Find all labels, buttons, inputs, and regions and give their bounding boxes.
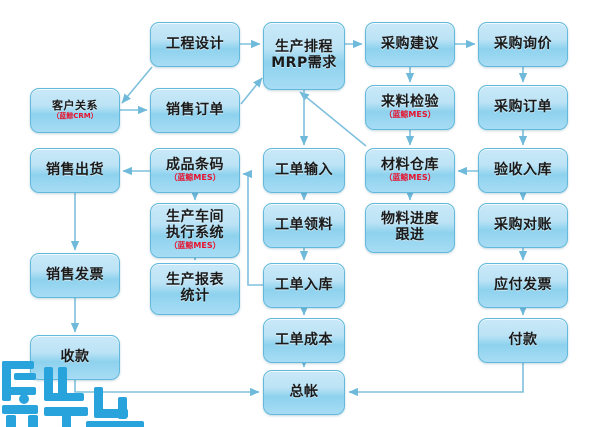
node-sublabel: （蓝鲸MES） — [384, 174, 435, 183]
node-crm[interactable]: 客户关系（蓝鲸CRM） — [30, 88, 120, 133]
node-payment_out[interactable]: 付款 — [478, 318, 568, 363]
node-purchase_inquiry[interactable]: 采购询价 — [478, 22, 568, 67]
node-payable_invoice[interactable]: 应付发票 — [478, 263, 568, 308]
node-material_warehouse[interactable]: 材料仓库（蓝鲸MES） — [365, 148, 455, 193]
node-purchase_recon[interactable]: 采购对账 — [478, 203, 568, 248]
node-sales_invoice[interactable]: 销售发票 — [30, 253, 120, 298]
node-label: 采购询价 — [494, 37, 552, 53]
node-sales_shipment[interactable]: 销售出货 — [30, 148, 120, 193]
edge-engineering_design-to-crm — [122, 67, 152, 103]
node-label: 材料仓库 — [381, 158, 439, 174]
node-label: 工单入库 — [275, 278, 333, 294]
edge-material_warehouse-to-mrp — [300, 92, 366, 146]
node-production_report[interactable]: 生产报表 统计 — [150, 263, 240, 315]
node-label: 验收入库 — [494, 163, 552, 179]
node-label: 总帐 — [290, 385, 319, 401]
node-label: 客户关系 — [52, 100, 98, 112]
node-label: 采购订单 — [494, 100, 552, 116]
node-wo_picking[interactable]: 工单领料 — [263, 203, 345, 248]
node-general_ledger[interactable]: 总帐 — [263, 370, 345, 415]
node-sales_order[interactable]: 销售订单 — [150, 88, 240, 133]
node-label: 来料检验 — [381, 95, 439, 111]
node-incoming_inspection[interactable]: 来料检验（蓝鲸MES） — [365, 85, 455, 130]
site-watermark-logo — [0, 353, 150, 427]
node-fg_barcode[interactable]: 成品条码（蓝鲸MES） — [150, 148, 240, 193]
node-mrp[interactable]: 生产排程 MRP需求 — [263, 22, 345, 90]
node-wo_storage[interactable]: 工单入库 — [263, 263, 345, 308]
node-label: 物料进度 跟进 — [381, 212, 439, 243]
node-label: 工程设计 — [166, 37, 224, 53]
node-label: 生产排程 MRP需求 — [271, 40, 336, 71]
node-label: 应付发票 — [494, 278, 552, 294]
edge-sales_order-to-mrp — [241, 78, 262, 104]
node-label: 工单输入 — [275, 163, 333, 179]
node-purchase_order[interactable]: 采购订单 — [478, 85, 568, 130]
node-label: 工单领料 — [275, 218, 333, 234]
node-wo_cost[interactable]: 工单成本 — [263, 318, 345, 363]
node-receipt_storage[interactable]: 验收入库 — [478, 148, 568, 193]
node-label: 生产报表 统计 — [166, 273, 224, 304]
node-sublabel: （蓝鲸CRM） — [52, 113, 98, 121]
node-sublabel: （蓝鲸MES） — [169, 174, 220, 183]
node-label: 销售出货 — [46, 163, 104, 179]
flowchart-canvas: 工程设计客户关系（蓝鲸CRM）销售订单生产排程 MRP需求采购建议采购询价来料检… — [0, 0, 600, 427]
edge-payment_out-to-general_ledger — [349, 363, 523, 392]
edge-wo_storage-to-fg_barcode — [243, 174, 263, 285]
node-mes_shopfloor[interactable]: 生产车间 执行系统（蓝鲸MES） — [150, 203, 240, 258]
node-label: 成品条码 — [166, 158, 224, 174]
node-label: 销售订单 — [166, 103, 224, 119]
node-engineering_design[interactable]: 工程设计 — [150, 22, 240, 67]
node-sublabel: （蓝鲸MES） — [384, 111, 435, 120]
node-label: 采购建议 — [381, 37, 439, 53]
node-sublabel: （蓝鲸MES） — [169, 242, 220, 251]
node-wo_input[interactable]: 工单输入 — [263, 148, 345, 193]
node-material_progress[interactable]: 物料进度 跟进 — [365, 203, 455, 253]
node-label: 工单成本 — [275, 333, 333, 349]
node-label: 付款 — [509, 333, 538, 349]
node-label: 采购对账 — [494, 218, 552, 234]
node-label: 销售发票 — [46, 268, 104, 284]
node-purchase_advice[interactable]: 采购建议 — [365, 22, 455, 67]
node-label: 生产车间 执行系统 — [166, 210, 224, 241]
